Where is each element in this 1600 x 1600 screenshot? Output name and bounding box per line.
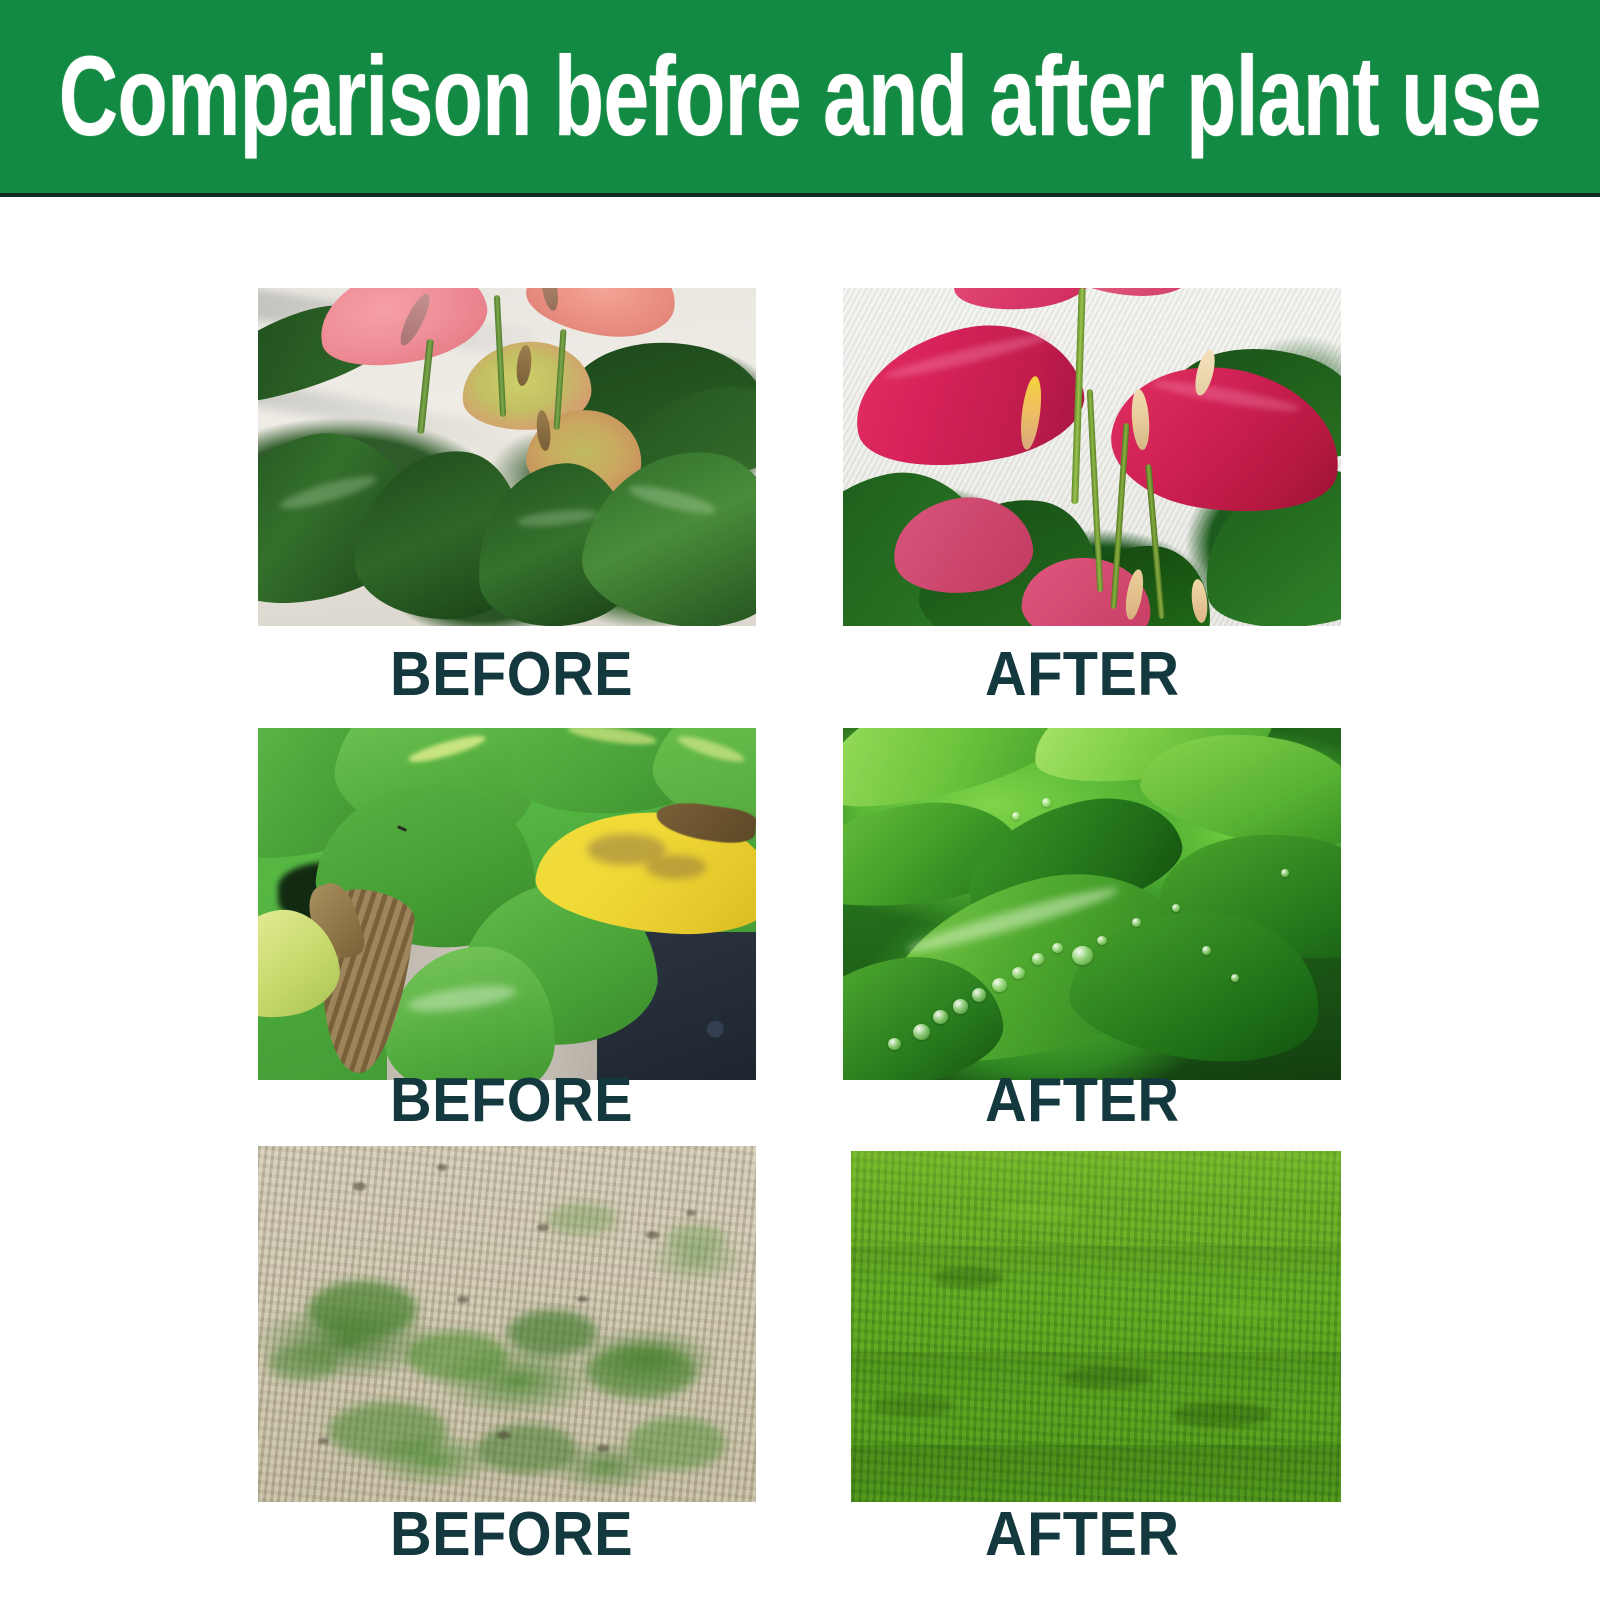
photo-anthurium-after <box>843 288 1341 626</box>
pothos-before-image <box>258 728 756 1080</box>
lawn-after-image <box>843 1146 1341 1502</box>
caption-after-lawn: AFTER <box>985 1504 1180 1566</box>
page-title: Comparison before and after plant use <box>59 40 1541 153</box>
photo-anthurium-before <box>258 288 756 626</box>
caption-before-pothos: BEFORE <box>390 1070 633 1132</box>
caption-before-lawn: BEFORE <box>390 1504 633 1566</box>
photo-pothos-before <box>258 728 756 1080</box>
photo-lawn-before <box>258 1146 756 1502</box>
lawn-before-image <box>258 1146 756 1502</box>
photo-lawn-after <box>843 1146 1341 1502</box>
header-banner: Comparison before and after plant use <box>0 0 1600 197</box>
caption-after-anthurium: AFTER <box>985 644 1180 706</box>
photo-pothos-after <box>843 728 1341 1080</box>
anthurium-after-image <box>843 288 1341 626</box>
pothos-after-image <box>843 728 1341 1080</box>
caption-after-pothos: AFTER <box>985 1070 1180 1132</box>
anthurium-before-image <box>258 288 756 626</box>
caption-before-anthurium: BEFORE <box>390 644 633 706</box>
